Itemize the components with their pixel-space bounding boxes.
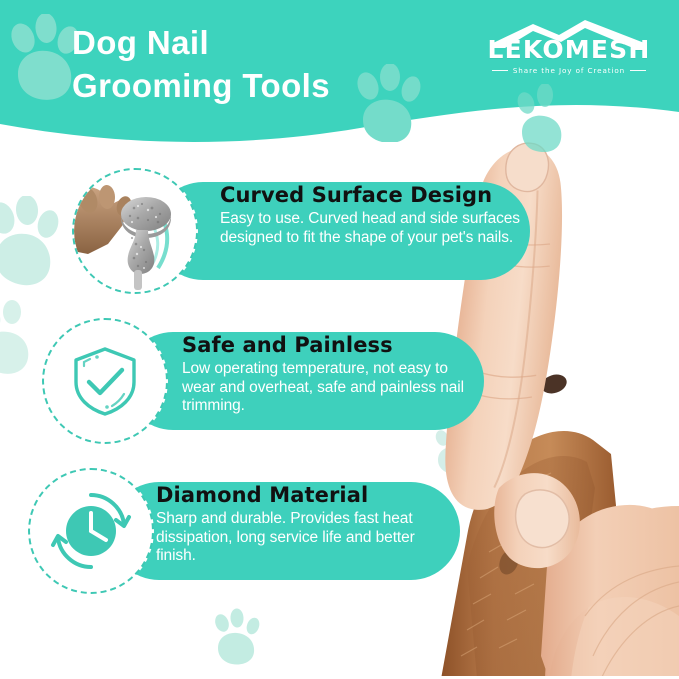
- feature-icon-circle: [72, 168, 198, 294]
- feature-body: Low operating temperature, not easy to w…: [182, 360, 482, 416]
- clock-refresh-icon: [50, 490, 132, 572]
- feature-body: Sharp and durable. Provides fast heat di…: [156, 510, 456, 566]
- feature-text: Curved Surface Design Easy to use. Curve…: [220, 184, 520, 247]
- brand-logo: LEKOMESH Share the Joy of Creation: [481, 18, 657, 86]
- feature-card-curved-surface-design[interactable]: Curved Surface Design Easy to use. Curve…: [72, 168, 542, 294]
- product-photo-nail-grinder-bit-icon: [74, 170, 196, 292]
- feature-body: Easy to use. Curved head and side surfac…: [220, 210, 520, 247]
- feature-title: Safe and Painless: [182, 334, 482, 357]
- product-infographic: Dog Nail Grooming Tools LEKOMESH Share t…: [0, 0, 679, 679]
- paw-print-header-far-right: [512, 84, 582, 152]
- paw-print-bottom-center: [208, 608, 270, 668]
- feature-icon-circle: [42, 318, 168, 444]
- header-banner: Dog Nail Grooming Tools LEKOMESH Share t…: [0, 0, 679, 160]
- feature-text: Safe and Painless Low operating temperat…: [182, 334, 482, 416]
- brand-tagline: Share the Joy of Creation: [513, 66, 625, 75]
- feature-card-safe-and-painless[interactable]: Safe and Painless Low operating temperat…: [42, 318, 512, 444]
- page-title: Dog Nail Grooming Tools: [72, 22, 472, 108]
- brand-name: LEKOMESH: [481, 35, 657, 64]
- shield-check-icon: [68, 344, 142, 418]
- feature-text: Diamond Material Sharp and durable. Prov…: [156, 484, 456, 566]
- feature-icon-circle: [28, 468, 154, 594]
- feature-title: Curved Surface Design: [220, 184, 520, 207]
- page-title-line-1: Dog Nail: [72, 24, 209, 61]
- tagline-rule-right: [630, 70, 646, 71]
- feature-card-diamond-material[interactable]: Diamond Material Sharp and durable. Prov…: [28, 468, 498, 594]
- paw-print-left-lower: [0, 300, 44, 380]
- page-title-line-2: Grooming Tools: [72, 65, 472, 108]
- brand-tagline-row: Share the Joy of Creation: [481, 66, 657, 75]
- feature-title: Diamond Material: [156, 484, 456, 507]
- paw-print-left-upper: [0, 196, 68, 292]
- tagline-rule-left: [492, 70, 508, 71]
